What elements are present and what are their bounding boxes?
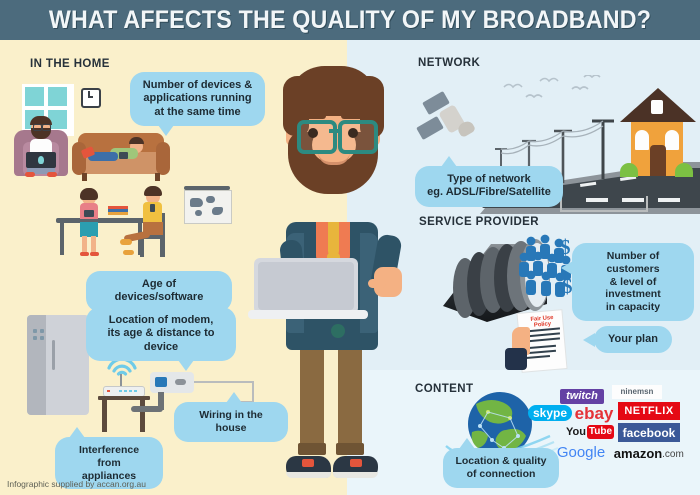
footer-credit: Infographic supplied by accan.org.au [7, 479, 146, 489]
character-finger [368, 279, 386, 288]
sofa-leg [155, 173, 160, 181]
callout-your-plan[interactable]: Your plan [594, 326, 672, 353]
callout-line: Location of modem, [109, 314, 214, 326]
phone-device [150, 204, 155, 212]
callout-line: Location & quality [455, 455, 546, 467]
character-glasses-left [297, 120, 337, 154]
person-glasses [33, 124, 42, 131]
child-hair [144, 186, 162, 196]
book [108, 212, 128, 215]
shoe-laces [302, 459, 314, 467]
fridge-button [40, 336, 44, 340]
trouser-cuff [336, 443, 364, 455]
book [108, 209, 128, 212]
jacket-button [331, 324, 345, 338]
shoe-laces [350, 459, 362, 467]
router-led [124, 390, 127, 392]
child-shoe [90, 252, 99, 256]
person-glasses [42, 124, 51, 131]
callout-line: Type of network [447, 173, 531, 185]
child-shoe [80, 252, 89, 256]
router-led [129, 390, 132, 392]
outlet-port [155, 377, 167, 387]
fridge-button [33, 329, 37, 333]
bubble-tail [69, 427, 85, 438]
wiring-line [194, 381, 254, 383]
page-title: WHAT AFFECTS THE QUALITY OF MY BROADBAND… [25, 0, 676, 40]
section-heading-home: IN THE HOME [30, 58, 110, 70]
brand-logo-ninemsn: ninemsn [612, 385, 662, 399]
outlet-port [175, 379, 186, 385]
birds-icon [500, 75, 610, 105]
bubble-tail [459, 438, 475, 449]
callout-line: its age & distance to device [108, 327, 215, 352]
child-skirt [80, 222, 98, 237]
window-pane [48, 87, 67, 106]
sleeve [505, 348, 527, 370]
cable [131, 406, 163, 412]
callout-line: Number of customers [606, 250, 659, 275]
callout-line: of connection [467, 468, 536, 480]
chair-leg [140, 239, 144, 257]
infographic-canvas: WHAT AFFECTS THE QUALITY OF MY BROADBAND… [0, 0, 700, 495]
window-pane [25, 87, 44, 106]
sofa-arm [156, 142, 170, 175]
trouser-cuff [298, 443, 326, 455]
section-heading-network: NETWORK [418, 57, 480, 69]
person-hair [129, 137, 144, 144]
brand-logo-youtube-tube: Tube [587, 425, 614, 439]
bubble-tail [178, 360, 194, 371]
callout-line: in capacity [606, 301, 660, 313]
shoe-sole [333, 472, 378, 478]
house-door [650, 145, 666, 176]
dollar-sign-bottom: $ [562, 274, 573, 299]
callout-line: & level of investment [605, 276, 660, 301]
brand-logo-youtube-text: You [565, 425, 587, 439]
callout-line: Your plan [608, 333, 658, 345]
fridge-handle [52, 340, 55, 370]
brand-logo-netflix: NETFLIX [618, 402, 680, 420]
wiring-line [252, 381, 254, 403]
child-shoe [123, 250, 134, 255]
callout-line: Wiring in the house [199, 409, 262, 434]
fridge-button [40, 329, 44, 333]
map-landmass [195, 210, 202, 216]
map-landmass [190, 198, 203, 207]
callout-line: eg. ADSL/Fibre/Satellite [427, 186, 551, 198]
character-eye [308, 128, 318, 138]
laptop-screen-glow [38, 156, 44, 164]
child-shoe [120, 239, 132, 245]
bubble-tail [583, 333, 595, 347]
character-eyebrow [341, 113, 365, 119]
dollar-sign-top: $ [560, 235, 571, 260]
character-leg [300, 345, 324, 453]
callout-line: Number of devices & [143, 79, 252, 91]
brand-logo-google: Google [556, 444, 606, 460]
person-shoe [25, 172, 35, 177]
map-landmass [206, 196, 215, 203]
brand-logo-skype: skype [528, 405, 572, 421]
bubble-tail [561, 261, 573, 275]
shoe-sole [286, 472, 331, 478]
callout-devices-apps[interactable]: Number of devices & applications running… [130, 72, 265, 126]
character-eye [348, 128, 358, 138]
leader-line [646, 196, 648, 210]
router-led [119, 390, 122, 392]
character-eyebrow [302, 113, 326, 119]
glasses-bridge [329, 129, 338, 133]
tablet-device [119, 152, 128, 159]
callout-line: Interference from [79, 444, 139, 469]
router-led [134, 390, 137, 392]
sofa-leg [82, 173, 87, 181]
callout-line: Age of devices/software [115, 278, 204, 303]
laptop-display [258, 262, 354, 310]
callout-line: at the same time [154, 106, 240, 118]
poster-rail [184, 186, 230, 190]
character-tie [328, 222, 339, 256]
callout-connection[interactable]: Location & quality of connection [443, 448, 559, 488]
brand-logo-facebook: facebook [618, 423, 680, 442]
callout-customers[interactable]: Number of customers & level of investmen… [572, 243, 694, 321]
child-hair [80, 188, 98, 200]
bubble-tail [441, 156, 457, 167]
brand-logo-twitch: twitch [560, 389, 604, 404]
brand-logo-amazon-com: .com [659, 448, 687, 461]
house-window [635, 130, 649, 150]
table-leg [60, 223, 64, 255]
table-top [56, 218, 146, 223]
house-bush [620, 163, 638, 177]
callout-line: applications running [143, 92, 251, 104]
callout-house-wiring[interactable]: Wiring in the house [174, 402, 288, 442]
house-attic-window [651, 100, 663, 114]
person-shoe [47, 172, 57, 177]
house-bush [675, 163, 693, 177]
character-glasses-right [338, 120, 378, 154]
bubble-tail [158, 125, 174, 136]
house-window [665, 130, 679, 150]
fridge-button [33, 336, 37, 340]
bubble-tail [226, 392, 242, 403]
wall-clock-icon [81, 88, 101, 108]
callout-device-age[interactable]: Age of devices/software [86, 271, 232, 312]
router-led [107, 390, 110, 392]
leader-line [560, 210, 648, 212]
callout-modem-location[interactable]: Location of modem, its age & distance to… [86, 307, 236, 361]
side-table-leg [140, 400, 145, 432]
book [108, 206, 128, 209]
brand-logo-ebay: ebay [572, 404, 616, 422]
tablet-device [84, 210, 94, 217]
callout-network-type[interactable]: Type of network eg. ADSL/Fibre/Satellite [415, 166, 563, 207]
character-leg [338, 345, 362, 453]
laptop-base [248, 310, 368, 319]
brand-logo-amazon: amazon [616, 446, 660, 461]
side-table-leg [102, 400, 107, 432]
clock-hand [88, 96, 93, 98]
